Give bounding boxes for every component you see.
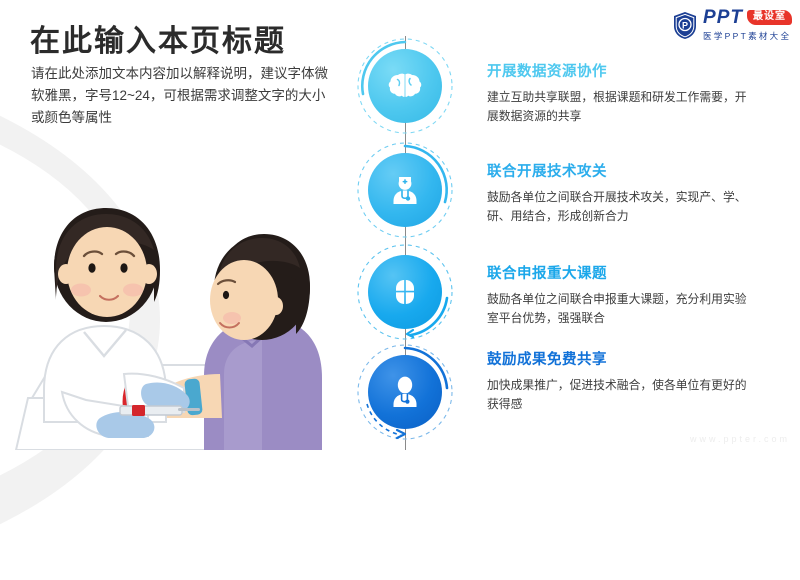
logo-tagline: 医学PPT素材大全 xyxy=(703,30,792,42)
timeline-node-1[interactable] xyxy=(355,36,455,136)
doctor-person-icon xyxy=(385,372,425,412)
timeline-heading-1: 开展数据资源协作 xyxy=(487,60,747,81)
timeline-desc-4: 加快成果推广，促进技术融合，使各单位有更好的获得感 xyxy=(487,376,747,414)
timeline-bubble-4[interactable] xyxy=(368,355,442,429)
timeline-node-2[interactable] xyxy=(355,140,455,240)
timeline-node-3[interactable] xyxy=(355,242,455,342)
nurse-drawing-blood-illustration xyxy=(8,160,338,450)
timeline-heading-3: 联合申报重大课题 xyxy=(487,262,747,283)
timeline-text-1: 开展数据资源协作 建立互助共享联盟，根据课题和研发工作需要，开展数据资源的共享 xyxy=(487,60,747,126)
timeline-heading-2: 联合开展技术攻关 xyxy=(487,160,747,181)
logo-badge: 最设室 xyxy=(747,10,792,25)
logo-text-group: PPT 最设室 医学PPT素材大全 xyxy=(703,8,792,42)
timeline-desc-3: 鼓励各单位之间联合申报重大课题，充分利用实验室平台优势，强强联合 xyxy=(487,290,747,328)
brand-logo: P PPT 最设室 医学PPT素材大全 xyxy=(672,8,792,42)
timeline-text-3: 联合申报重大课题 鼓励各单位之间联合申报重大课题，充分利用实验室平台优势，强强联… xyxy=(487,262,747,328)
timeline-heading-4: 鼓励成果免费共享 xyxy=(487,348,747,369)
timeline-bubble-3[interactable] xyxy=(368,255,442,329)
page-subtitle: 请在此处添加文本内容加以解释说明，建议字体微软雅黑，字号12~24，可根据需求调… xyxy=(31,63,331,129)
site-watermark: www.ppter.com xyxy=(690,434,790,444)
svg-text:P: P xyxy=(682,20,688,30)
shield-icon: P xyxy=(672,11,698,40)
timeline-bubble-1[interactable] xyxy=(368,49,442,123)
page-title: 在此输入本页标题 xyxy=(30,16,286,60)
medical-quadrant-icon xyxy=(386,273,424,311)
timeline-desc-2: 鼓励各单位之间联合开展技术攻关，实现产、学、研、用结合，形成创新合力 xyxy=(487,188,747,226)
doctor-stethoscope-icon xyxy=(385,170,425,210)
timeline-column xyxy=(348,36,468,450)
timeline-desc-1: 建立互助共享联盟，根据课题和研发工作需要，开展数据资源的共享 xyxy=(487,88,747,126)
brain-icon xyxy=(385,66,425,106)
timeline-bubble-2[interactable] xyxy=(368,153,442,227)
timeline-node-4[interactable] xyxy=(355,342,455,442)
timeline-text-2: 联合开展技术攻关 鼓励各单位之间联合开展技术攻关，实现产、学、研、用结合，形成创… xyxy=(487,160,747,226)
logo-brand-text: PPT xyxy=(703,8,743,27)
timeline-text-4: 鼓励成果免费共享 加快成果推广，促进技术融合，使各单位有更好的获得感 xyxy=(487,348,747,414)
logo-primary-row: PPT 最设室 xyxy=(703,8,792,27)
